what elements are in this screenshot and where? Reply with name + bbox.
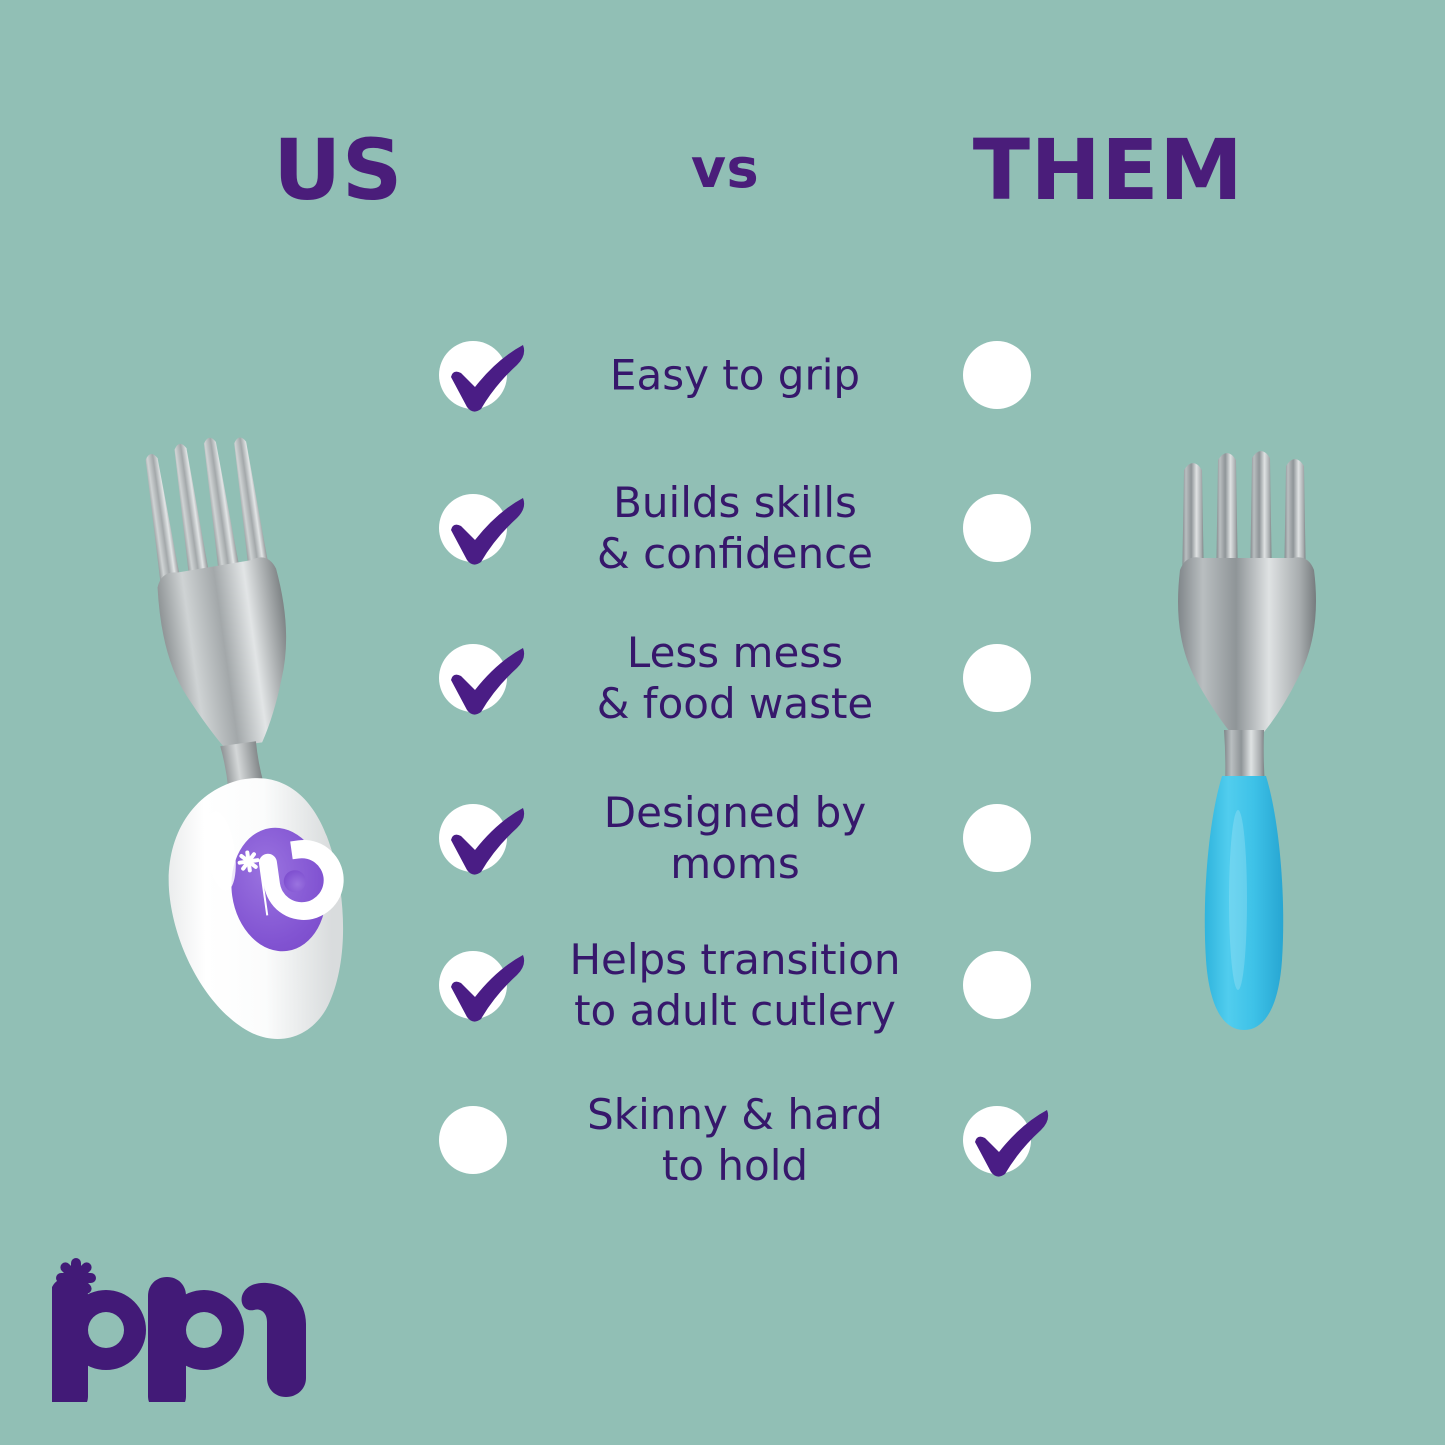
infographic-canvas: US vs THEM [0,0,1445,1445]
doddl-wordmark-svg [52,1252,352,1402]
check-icon [435,480,531,576]
table-row: Helps transition to adult cutlery [415,910,1055,1060]
check-icon [435,937,531,1033]
product-image-standard-fork [1140,430,1370,1090]
heading-them: THEM [973,128,1244,212]
heading-vs: vs [691,142,759,196]
us-mark-check [439,644,507,712]
them-mark-empty [963,951,1031,1019]
them-mark-empty [963,644,1031,712]
standard-fork-svg [1140,430,1370,1090]
check-icon [435,790,531,886]
disc [963,644,1031,712]
us-mark-check [439,494,507,562]
check-icon [435,630,531,726]
disc [963,804,1031,872]
check-icon [435,327,531,423]
row-label: Easy to grip [535,349,935,400]
them-mark-check [963,1106,1031,1174]
them-mark-empty [963,494,1031,562]
comparison-table: Easy to grip Builds skills & confidence [415,318,1055,1208]
them-mark-empty [963,341,1031,409]
us-mark-check [439,341,507,409]
disc [963,494,1031,562]
row-label: Helps transition to adult cutlery [535,934,935,1036]
row-label: Skinny & hard to hold [535,1089,935,1191]
table-row: Less mess & food waste [415,603,1055,753]
table-row: Builds skills & confidence [415,453,1055,603]
heading-us: US [273,128,403,212]
check-icon [959,1092,1055,1188]
brand-logo-doddl [52,1252,352,1402]
product-image-doddl-fork [96,430,346,1100]
table-row: Skinny & hard to hold [415,1065,1055,1215]
us-mark-empty [439,1106,507,1174]
disc [439,1106,507,1174]
disc [963,951,1031,1019]
us-mark-check [439,804,507,872]
doddl-fork-svg [96,430,346,1100]
table-row: Easy to grip [415,300,1055,450]
row-label: Less mess & food waste [535,627,935,729]
row-label: Builds skills & confidence [535,477,935,579]
row-label: Designed by moms [535,787,935,889]
us-mark-check [439,951,507,1019]
table-row: Designed by moms [415,763,1055,913]
them-mark-empty [963,804,1031,872]
disc [963,341,1031,409]
